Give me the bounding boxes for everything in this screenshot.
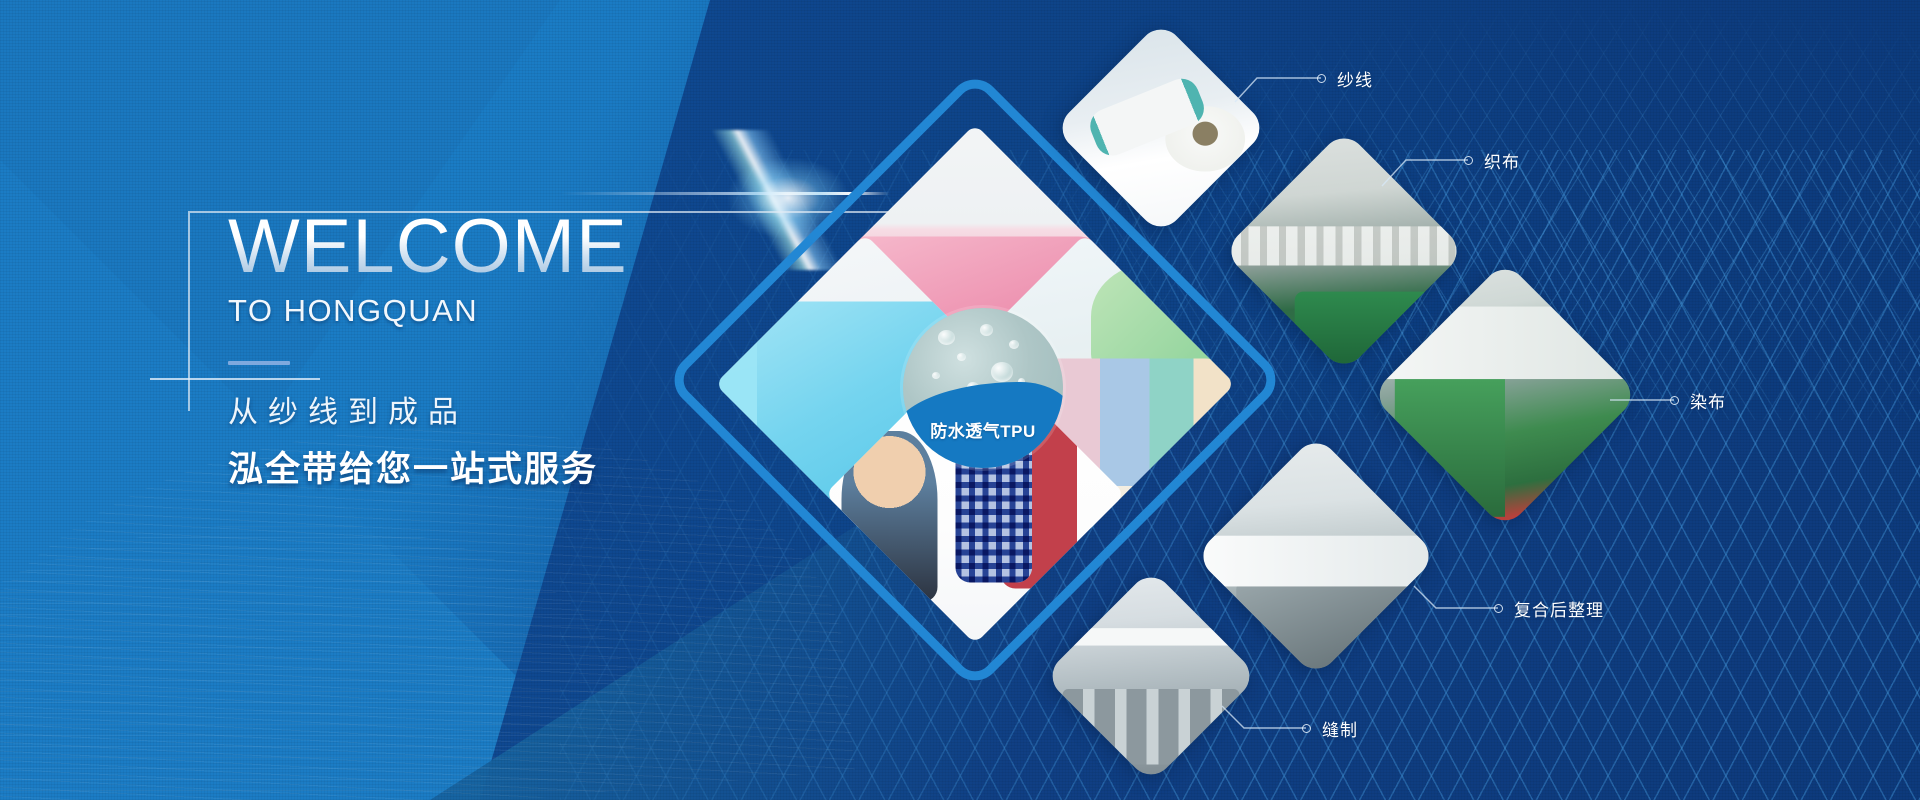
callout-label-yarn: 纱线 <box>1337 66 1373 91</box>
hero-banner: WELCOME TO HONGQUAN 从纱线到成品 泓全带给您一站式服务 <box>0 0 1920 800</box>
badge-label: 防水透气TPU <box>903 417 1063 442</box>
callout-label-lamination: 复合后整理 <box>1514 596 1604 621</box>
tpu-badge[interactable]: 防水透气TPU <box>903 308 1063 468</box>
callout-label-dyeing: 染布 <box>1690 388 1726 413</box>
page-title: WELCOME <box>228 205 628 289</box>
callout-dot-icon <box>1464 156 1473 165</box>
page-subtitle: TO HONGQUAN <box>228 291 788 331</box>
callout-label-weaving: 织布 <box>1484 148 1520 173</box>
callout-dot-icon <box>1494 604 1503 613</box>
callout-dot-icon <box>1317 74 1326 83</box>
divider-long <box>150 378 320 380</box>
divider-short <box>228 361 290 365</box>
headline-chinese: 泓全带给您一站式服务 <box>228 447 788 493</box>
callout-dot-icon <box>1670 396 1679 405</box>
callout-label-sewing: 缝制 <box>1322 716 1358 741</box>
callout-dot-icon <box>1302 724 1311 733</box>
